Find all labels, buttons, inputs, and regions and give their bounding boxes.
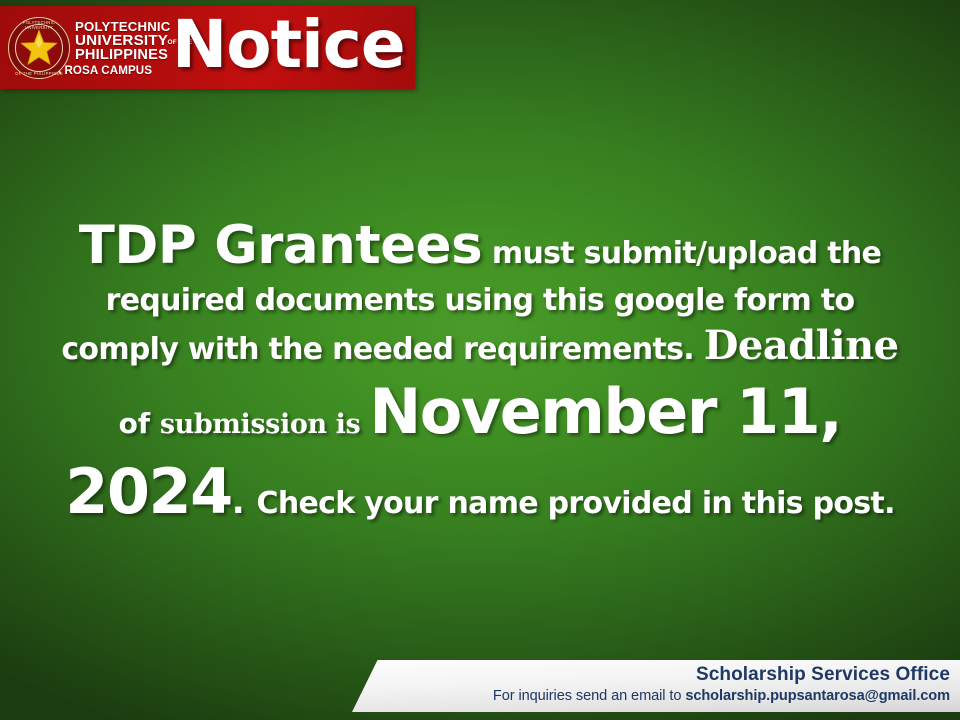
- message-segment-3: of: [119, 407, 160, 440]
- notice-message: TDP Grantees must submit/upload the requ…: [58, 212, 902, 533]
- inquiry-prefix: For inquiries send an email to: [493, 688, 685, 704]
- inquiry-line: For inquiries send an email to scholarsh…: [352, 688, 950, 706]
- message-segment-6: .: [232, 482, 257, 522]
- seal-bottom-text: OF THE PHILIPPINES: [8, 71, 70, 76]
- office-name: Scholarship Services Office: [352, 664, 950, 686]
- message-segment-2: Deadline: [704, 322, 899, 369]
- message-segment-7: Check your name provided in this post.: [257, 486, 895, 521]
- header-banner: POLYTECHNIC UNIVERSITY OF THE PHILIPPINE…: [0, 6, 415, 89]
- logo-line-philippines: PHILIPPINES: [75, 48, 171, 63]
- logo-wordmark: POLYTECHNIC UNIVERSITY OF THE PHILIPPINE…: [70, 20, 171, 77]
- message-segment-4: submission is: [160, 409, 370, 440]
- page-title: Notice: [172, 12, 405, 78]
- star-icon: [19, 28, 59, 68]
- contact-email[interactable]: scholarship.pupsantarosa@gmail.com: [685, 688, 950, 704]
- logo-university-text: UNIVERSITY: [75, 32, 168, 49]
- pup-seal-icon: POLYTECHNIC UNIVERSITY OF THE PHILIPPINE…: [8, 17, 70, 79]
- footer-contact: Scholarship Services Office For inquirie…: [352, 660, 956, 712]
- pup-logo: POLYTECHNIC UNIVERSITY OF THE PHILIPPINE…: [8, 10, 160, 86]
- logo-line-university: UNIVERSITY OF THE: [75, 33, 171, 48]
- message-segment-0: TDP Grantees: [79, 215, 482, 276]
- notice-poster: POLYTECHNIC UNIVERSITY OF THE PHILIPPINE…: [0, 0, 960, 720]
